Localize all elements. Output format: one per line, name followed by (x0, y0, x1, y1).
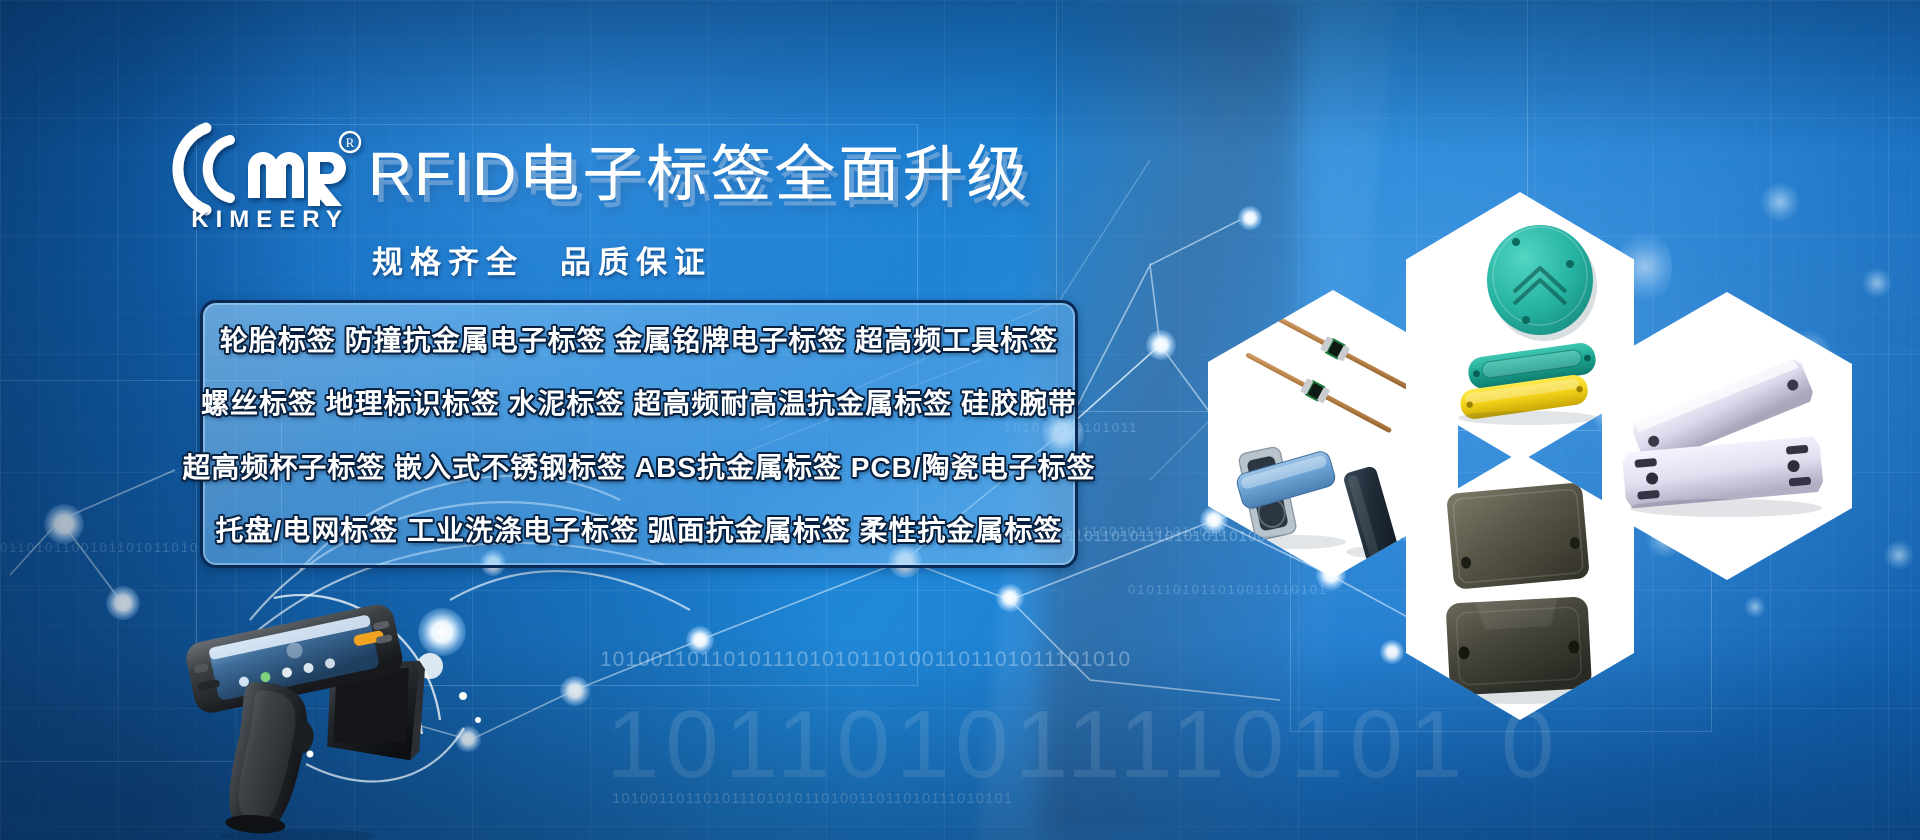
binary-decor-big: 101101011110101 0 (606, 690, 1560, 800)
tag-list-row: 螺丝标签 地理标识标签 水泥标签 超高频耐高温抗金属标签 硅胶腕带 (203, 371, 1075, 435)
network-node (1146, 330, 1176, 360)
registered-mark-icon: R (340, 132, 360, 152)
subtitle-right: 品质保证 (560, 245, 712, 280)
bokeh-dot (1862, 268, 1892, 298)
page-subtitle: 规格齐全品质保证 (372, 237, 712, 282)
tag-list-row: 托盘/电网标签 工业洗涤电子标签 弧面抗金属标签 柔性抗金属标签 (203, 498, 1075, 562)
binary-decor-row: 0110101100101101011010 (0, 540, 199, 555)
svg-text:R: R (346, 135, 355, 150)
brand-logo: R KIMEERY (170, 120, 370, 230)
rfid-product-banner: 101101011110101 0 1010011011010111010101… (0, 0, 1920, 840)
network-node (106, 586, 140, 620)
handheld-reader-image (178, 588, 494, 840)
network-node (560, 676, 590, 706)
network-node (44, 504, 84, 544)
headline-cn: 电子标签全面升级 (518, 140, 1030, 208)
bokeh-dot (1744, 596, 1766, 618)
brand-name: KIMEERY (172, 206, 368, 234)
headline-en: RFID (368, 140, 518, 208)
page-title: RFID电子标签全面升级 (368, 124, 1030, 213)
product-tag-list-box: 轮胎标签 防撞抗金属电子标签 金属铭牌电子标签 超高频工具标签 螺丝标签 地理标… (200, 300, 1078, 568)
bokeh-dot (1884, 540, 1914, 570)
network-node (686, 626, 714, 654)
bokeh-dot (1760, 182, 1800, 222)
white-long-anti-metal-tags-image (1602, 292, 1852, 580)
binary-decor-row: 1010011011010111010101101001101101011101… (600, 648, 1131, 672)
network-node (1380, 640, 1404, 664)
hexagon-right-products (1602, 292, 1852, 580)
network-node (996, 584, 1024, 612)
tag-list-row: 超高频杯子标签 嵌入式不锈钢标签 ABS抗金属标签 PCB/陶瓷电子标签 (203, 434, 1075, 498)
network-node (1238, 206, 1262, 230)
handheld-rfid-reader (178, 588, 494, 840)
subtitle-left: 规格齐全 (372, 245, 524, 280)
binary-decor-row: 1010011011010111010101101001101101011101… (612, 790, 1013, 807)
tag-list-row: 轮胎标签 防撞抗金属电子标签 金属铭牌电子标签 超高频工具标签 (203, 307, 1075, 371)
binary-decor-row: 0101101011010011010101 (1128, 582, 1328, 597)
